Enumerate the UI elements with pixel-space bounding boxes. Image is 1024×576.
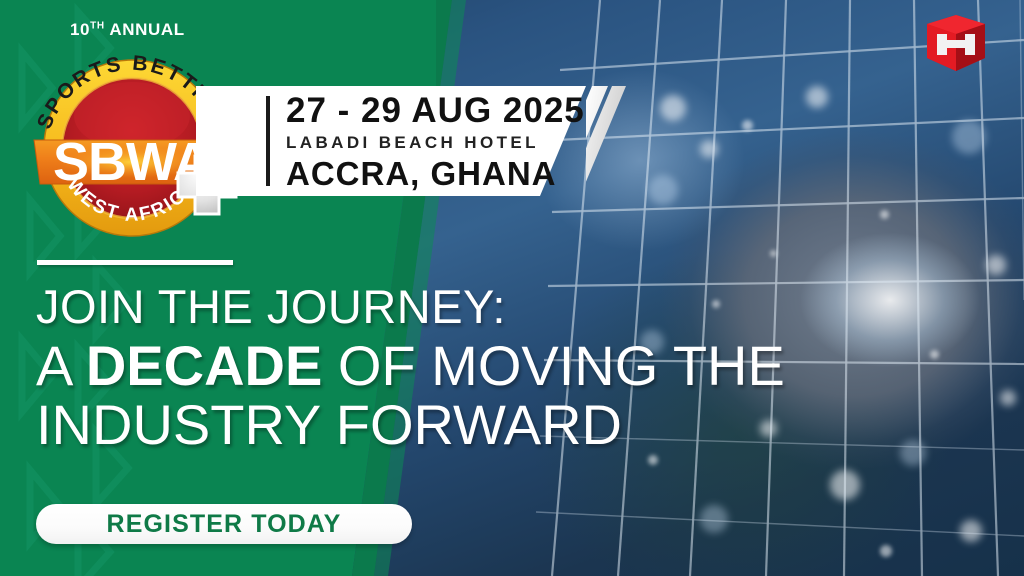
event-date-text-group: 27 - 29 AUG 2025 LABADI BEACH HOTEL ACCR… <box>286 90 586 194</box>
headline-line-2-pre: A <box>36 334 86 397</box>
annual-word: ANNUAL <box>109 20 184 39</box>
register-today-button[interactable]: REGISTER TODAY <box>36 504 412 544</box>
headline-group: JOIN THE JOURNEY: A DECADE OF MOVING THE… <box>36 284 916 453</box>
register-today-label: REGISTER TODAY <box>107 510 342 539</box>
event-venue: LABADI BEACH HOTEL <box>286 132 586 154</box>
event-city: ACCRA, GHANA <box>286 154 586 194</box>
headline-rule <box>37 260 233 265</box>
annual-ordinal: TH <box>90 20 105 31</box>
cube-logo-icon[interactable] <box>925 14 987 72</box>
event-dates: 27 - 29 AUG 2025 <box>286 90 586 132</box>
headline-line-3: INDUSTRY FORWARD <box>36 398 916 453</box>
annual-edition-label: 10TH ANNUAL <box>70 20 185 40</box>
headline-line-2: A DECADE OF MOVING THE <box>36 339 916 394</box>
headline-line-2-emphasis: DECADE <box>86 334 322 397</box>
headline-line-1: JOIN THE JOURNEY: <box>36 284 916 330</box>
headline-line-2-post: OF MOVING THE <box>322 334 785 397</box>
banner-vertical-divider <box>266 96 270 186</box>
annual-number: 10 <box>70 20 90 39</box>
event-promo-banner: 10TH ANNUAL <box>0 0 1024 576</box>
